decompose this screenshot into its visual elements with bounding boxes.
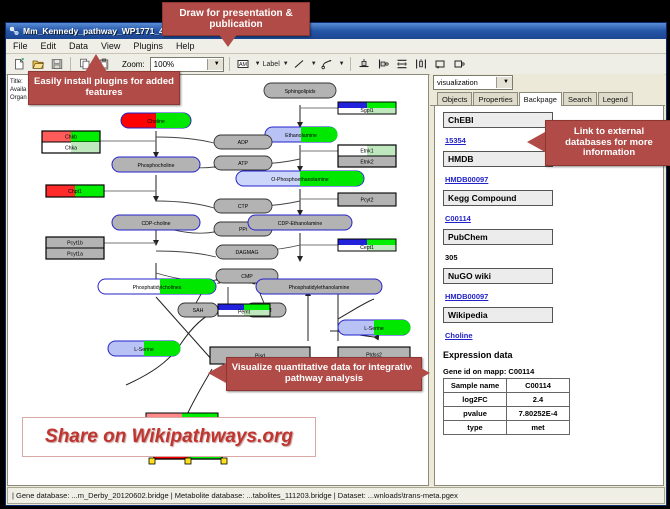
svg-text:Chkb: Chkb [65,134,77,140]
db-link-chebi[interactable]: 15354 [445,136,466,145]
common-width-button[interactable] [432,56,449,73]
db-link-wikipedia[interactable]: Choline [445,331,473,340]
toolbar-separator-3 [350,57,351,71]
visualization-select[interactable]: visualization ▼ [433,75,513,90]
distribute-button[interactable] [413,56,430,73]
tab-properties[interactable]: Properties [473,92,517,105]
svg-text:Phosphocholine: Phosphocholine [138,163,175,169]
node-atp[interactable]: ATP [214,156,272,170]
expr-key-type: type [444,421,507,435]
menu-data[interactable]: Data [67,41,90,51]
menu-help[interactable]: Help [174,41,197,51]
svg-text:Ethanolamine: Ethanolamine [285,133,317,139]
node-phosphatidylcholines[interactable]: Phosphatidylcholines [98,279,216,294]
status-bar: | Gene database: ...m_Derby_20120602.bri… [7,487,665,504]
svg-text:PPi: PPi [239,227,247,233]
node-sah[interactable]: SAH [178,303,218,317]
tab-legend[interactable]: Legend [598,92,633,105]
label-dropdown-icon[interactable]: ▼ [283,61,289,67]
menu-bar: File Edit Data View Plugins Help [6,39,666,54]
expression-data-heading: Expression data [443,350,655,360]
node-l-serine-right[interactable]: L-Serine [338,320,411,335]
node-o-phosphoethanolamine[interactable]: O-Phosphoethanolamine [236,171,364,186]
toolbar-separator-2 [229,57,230,71]
svg-text:Chka: Chka [65,145,77,151]
svg-text:Pcyt2: Pcyt2 [361,197,374,203]
svg-text:O-Phosphoethanolamine: O-Phosphoethanolamine [271,177,329,183]
expr-val-sample-name: C00114 [507,379,570,393]
svg-text:L-Serine: L-Serine [134,347,154,353]
expression-table: Sample name C00114 log2FC 2.4 pvalue 7.8… [443,378,570,435]
db-value-pubchem: 305 [445,253,458,262]
db-link-kegg[interactable]: C00114 [445,214,471,223]
gene-box-chkb-chka[interactable]: Chkb Chka [42,131,100,153]
svg-text:Sgpl1: Sgpl1 [360,108,373,114]
svg-text:L-Serine: L-Serine [364,326,384,332]
open-file-button[interactable] [29,56,46,73]
callout-links-arrow [527,132,545,152]
node-ethanolamine[interactable]: Ethanolamine [265,127,338,142]
share-text: Share on Wikipathways.org [45,426,293,448]
callout-visualize: Visualize quantitative data for integrat… [226,357,422,391]
table-row: log2FC 2.4 [444,393,570,407]
svg-text:CDP-Ethanolamine: CDP-Ethanolamine [278,221,323,227]
line-button[interactable] [291,56,308,73]
table-row: pvalue 7.80252E-4 [444,407,570,421]
zoom-select[interactable]: 100% ▼ [150,57,224,72]
svg-text:Etnk2: Etnk2 [360,159,373,165]
datanode-dropdown-icon[interactable]: ▼ [255,61,261,67]
table-row: Sample name C00114 [444,379,570,393]
zoom-label: Zoom: [122,60,145,69]
chevron-down-icon-visualization[interactable]: ▼ [496,77,512,88]
expr-key-sample-name: Sample name [444,379,507,393]
db-header-chebi: ChEBI [443,112,553,128]
interaction-dropdown-icon[interactable]: ▼ [339,61,345,67]
gene-box-sgpl1[interactable]: Sgpl1 [338,102,396,114]
new-file-button[interactable] [10,56,27,73]
svg-text:Phosphatidylethanolamine: Phosphatidylethanolamine [289,285,350,291]
group-button[interactable] [451,56,468,73]
svg-text:CMP: CMP [241,274,253,280]
gene-box-cept1[interactable]: Cept1 [338,239,396,251]
expr-val-pvalue: 7.80252E-4 [507,407,570,421]
line-dropdown-icon[interactable]: ▼ [311,61,317,67]
tab-backpage[interactable]: Backpage [519,92,562,106]
node-sphingolipids[interactable]: Sphingolipids [264,83,336,98]
gene-box-pemt[interactable]: Pemt [218,304,270,316]
db-header-kegg: Kegg Compound [443,190,553,206]
db-link-nugo[interactable]: HMDB00097 [445,292,488,301]
svg-text:Cept1: Cept1 [360,245,374,251]
node-cdp-choline[interactable]: CDP-choline [112,215,200,230]
db-header-nugo: NuGO wiki [443,268,553,284]
gene-id-line: Gene id on mapp: C00114 [443,367,655,376]
menu-file[interactable]: File [11,41,30,51]
expr-val-log2fc: 2.4 [507,393,570,407]
callout-visualize-arrow-right [412,363,430,383]
gene-box-pcyt1b-pcyt1a[interactable]: Pcyt1b Pcyt1a [46,237,104,259]
tab-objects[interactable]: Objects [437,92,472,105]
datanode-button[interactable]: AM [235,56,252,73]
table-row: type met [444,421,570,435]
visualization-value: visualization [434,78,478,87]
menu-view[interactable]: View [99,41,122,51]
gene-box-etnk1-etnk2[interactable]: Etnk1 Etnk2 [338,145,396,167]
interaction-button[interactable] [319,56,336,73]
svg-text:Pcyt1b: Pcyt1b [67,240,83,246]
svg-text:Pemt: Pemt [238,309,251,315]
node-adp[interactable]: ADP [214,135,272,149]
chevron-down-icon[interactable]: ▼ [207,59,223,70]
node-choline-top[interactable]: Choline [121,113,191,128]
svg-text:AM: AM [239,62,248,68]
svg-text:ATP: ATP [238,161,248,167]
svg-text:SAH: SAH [193,308,204,314]
svg-text:Sphingolipids: Sphingolipids [285,89,316,95]
node-dagmag[interactable]: DAGMAG [216,245,278,259]
svg-text:Phosphatidylcholines: Phosphatidylcholines [133,285,182,291]
visualization-row: visualization ▼ [430,74,665,90]
align-stack-button[interactable] [394,56,411,73]
callout-plugins: Easily install plugins for added feature… [28,71,180,105]
callout-plugins-arrow [85,54,107,72]
screenshot-root: Mm_Kennedy_pathway_WP1771_45176.gpml Fil… [0,0,670,509]
status-bar-text: | Gene database: ...m_Derby_20120602.bri… [8,491,458,500]
db-header-wikipedia: Wikipedia [443,307,553,323]
callout-draw: Draw for presentation & publication [162,2,310,36]
zoom-value: 100% [151,60,174,69]
svg-text:CDP-choline: CDP-choline [141,221,170,227]
gene-box-chpt1[interactable]: Chpt1 [46,185,104,197]
title-bar: Mm_Kennedy_pathway_WP1771_45176.gpml [6,23,666,39]
toolbar-separator-1 [70,57,71,71]
gene-box-pcyt2[interactable]: Pcyt2 [338,193,396,206]
expr-key-pvalue: pvalue [444,407,507,421]
node-phosphocholine[interactable]: Phosphocholine [112,157,200,172]
svg-text:ADP: ADP [238,140,249,146]
align-top-button[interactable] [356,56,373,73]
menu-plugins[interactable]: Plugins [131,41,165,51]
svg-text:Etnk1: Etnk1 [360,148,373,154]
label-button-text[interactable]: Label [263,61,280,68]
node-l-serine-left[interactable]: L-Serine [108,341,181,356]
svg-text:Choline: Choline [147,119,165,125]
callout-visualize-arrow [208,363,226,383]
node-phosphatidylethanolamine[interactable]: Phosphatidylethanolamine [256,279,382,294]
callout-draw-arrow [218,33,238,47]
callout-links: Link to external databases for more info… [545,120,670,166]
svg-text:Pcyt1a: Pcyt1a [67,251,83,257]
sidebar-tabs: Objects Properties Backpage Search Legen… [430,90,665,106]
node-ctp[interactable]: CTP [214,199,272,213]
pathvisio-icon [9,26,19,36]
db-header-hmdb: HMDB [443,151,553,167]
callout-share: Share on Wikipathways.org [22,417,316,457]
db-header-pubchem: PubChem [443,229,553,245]
svg-text:Chpt1: Chpt1 [68,189,82,195]
node-cdp-ethanolamine[interactable]: CDP-Ethanolamine [248,215,352,230]
svg-text:DAGMAG: DAGMAG [235,250,258,256]
expr-val-type: met [507,421,570,435]
menu-edit[interactable]: Edit [39,41,59,51]
expr-key-log2fc: log2FC [444,393,507,407]
db-link-hmdb[interactable]: HMDB00097 [445,175,488,184]
svg-text:CTP: CTP [238,204,249,210]
tab-search[interactable]: Search [563,92,597,105]
align-left-button[interactable] [375,56,392,73]
save-file-button[interactable] [48,56,65,73]
